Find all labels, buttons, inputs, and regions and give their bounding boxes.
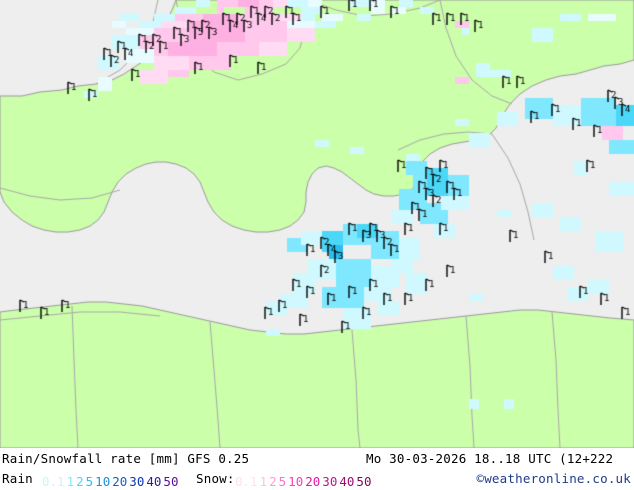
rain-stop-2[interactable]: 2 xyxy=(75,474,85,489)
snow-stop-20[interactable]: 20 xyxy=(304,474,321,489)
product-title: Rain/Snowfall rate [mm] GFS 0.25 xyxy=(2,451,249,466)
snow-legend-label: Snow: xyxy=(196,471,235,486)
rain-stop-40[interactable]: 40 xyxy=(145,474,162,489)
snow-stop-0.1[interactable]: 0.1 xyxy=(234,474,259,489)
snow-stop-5[interactable]: 5 xyxy=(278,474,288,489)
map-footer: Rain/Snowfall rate [mm] GFS 0.25 Mo 30-0… xyxy=(0,448,634,490)
rain-legend-scale[interactable]: 0.11251020304050 xyxy=(41,471,179,490)
rain-stop-50[interactable]: 50 xyxy=(162,474,179,489)
weather-map-page: Rain/Snowfall rate [mm] GFS 0.25 Mo 30-0… xyxy=(0,0,634,490)
snow-stop-10[interactable]: 10 xyxy=(287,474,304,489)
rain-stop-10[interactable]: 10 xyxy=(94,474,111,489)
footer-title-line: Rain/Snowfall rate [mm] GFS 0.25 Mo 30-0… xyxy=(0,450,634,468)
footer-legend-line: Rain 0.11251020304050 Snow: 0.1125102030… xyxy=(0,470,634,488)
snow-legend-scale[interactable]: 0.11251020304050 xyxy=(234,471,372,490)
rain-legend-label: Rain xyxy=(2,471,33,486)
snow-stop-1[interactable]: 1 xyxy=(259,474,269,489)
snow-stop-50[interactable]: 50 xyxy=(355,474,372,489)
rain-stop-0.1[interactable]: 0.1 xyxy=(41,474,66,489)
rain-stop-30[interactable]: 30 xyxy=(128,474,145,489)
rain-stop-20[interactable]: 20 xyxy=(111,474,128,489)
copyright-notice: ©weatheronline.co.uk xyxy=(476,471,631,486)
map-render-canvas[interactable] xyxy=(0,0,634,448)
precipitation-map[interactable] xyxy=(0,0,634,448)
snow-stop-30[interactable]: 30 xyxy=(321,474,338,489)
snow-stop-2[interactable]: 2 xyxy=(268,474,278,489)
rain-stop-5[interactable]: 5 xyxy=(85,474,95,489)
snow-stop-40[interactable]: 40 xyxy=(338,474,355,489)
forecast-datetime: Mo 30-03-2026 18..18 UTC (12+222 xyxy=(366,451,613,466)
rain-stop-1[interactable]: 1 xyxy=(66,474,76,489)
